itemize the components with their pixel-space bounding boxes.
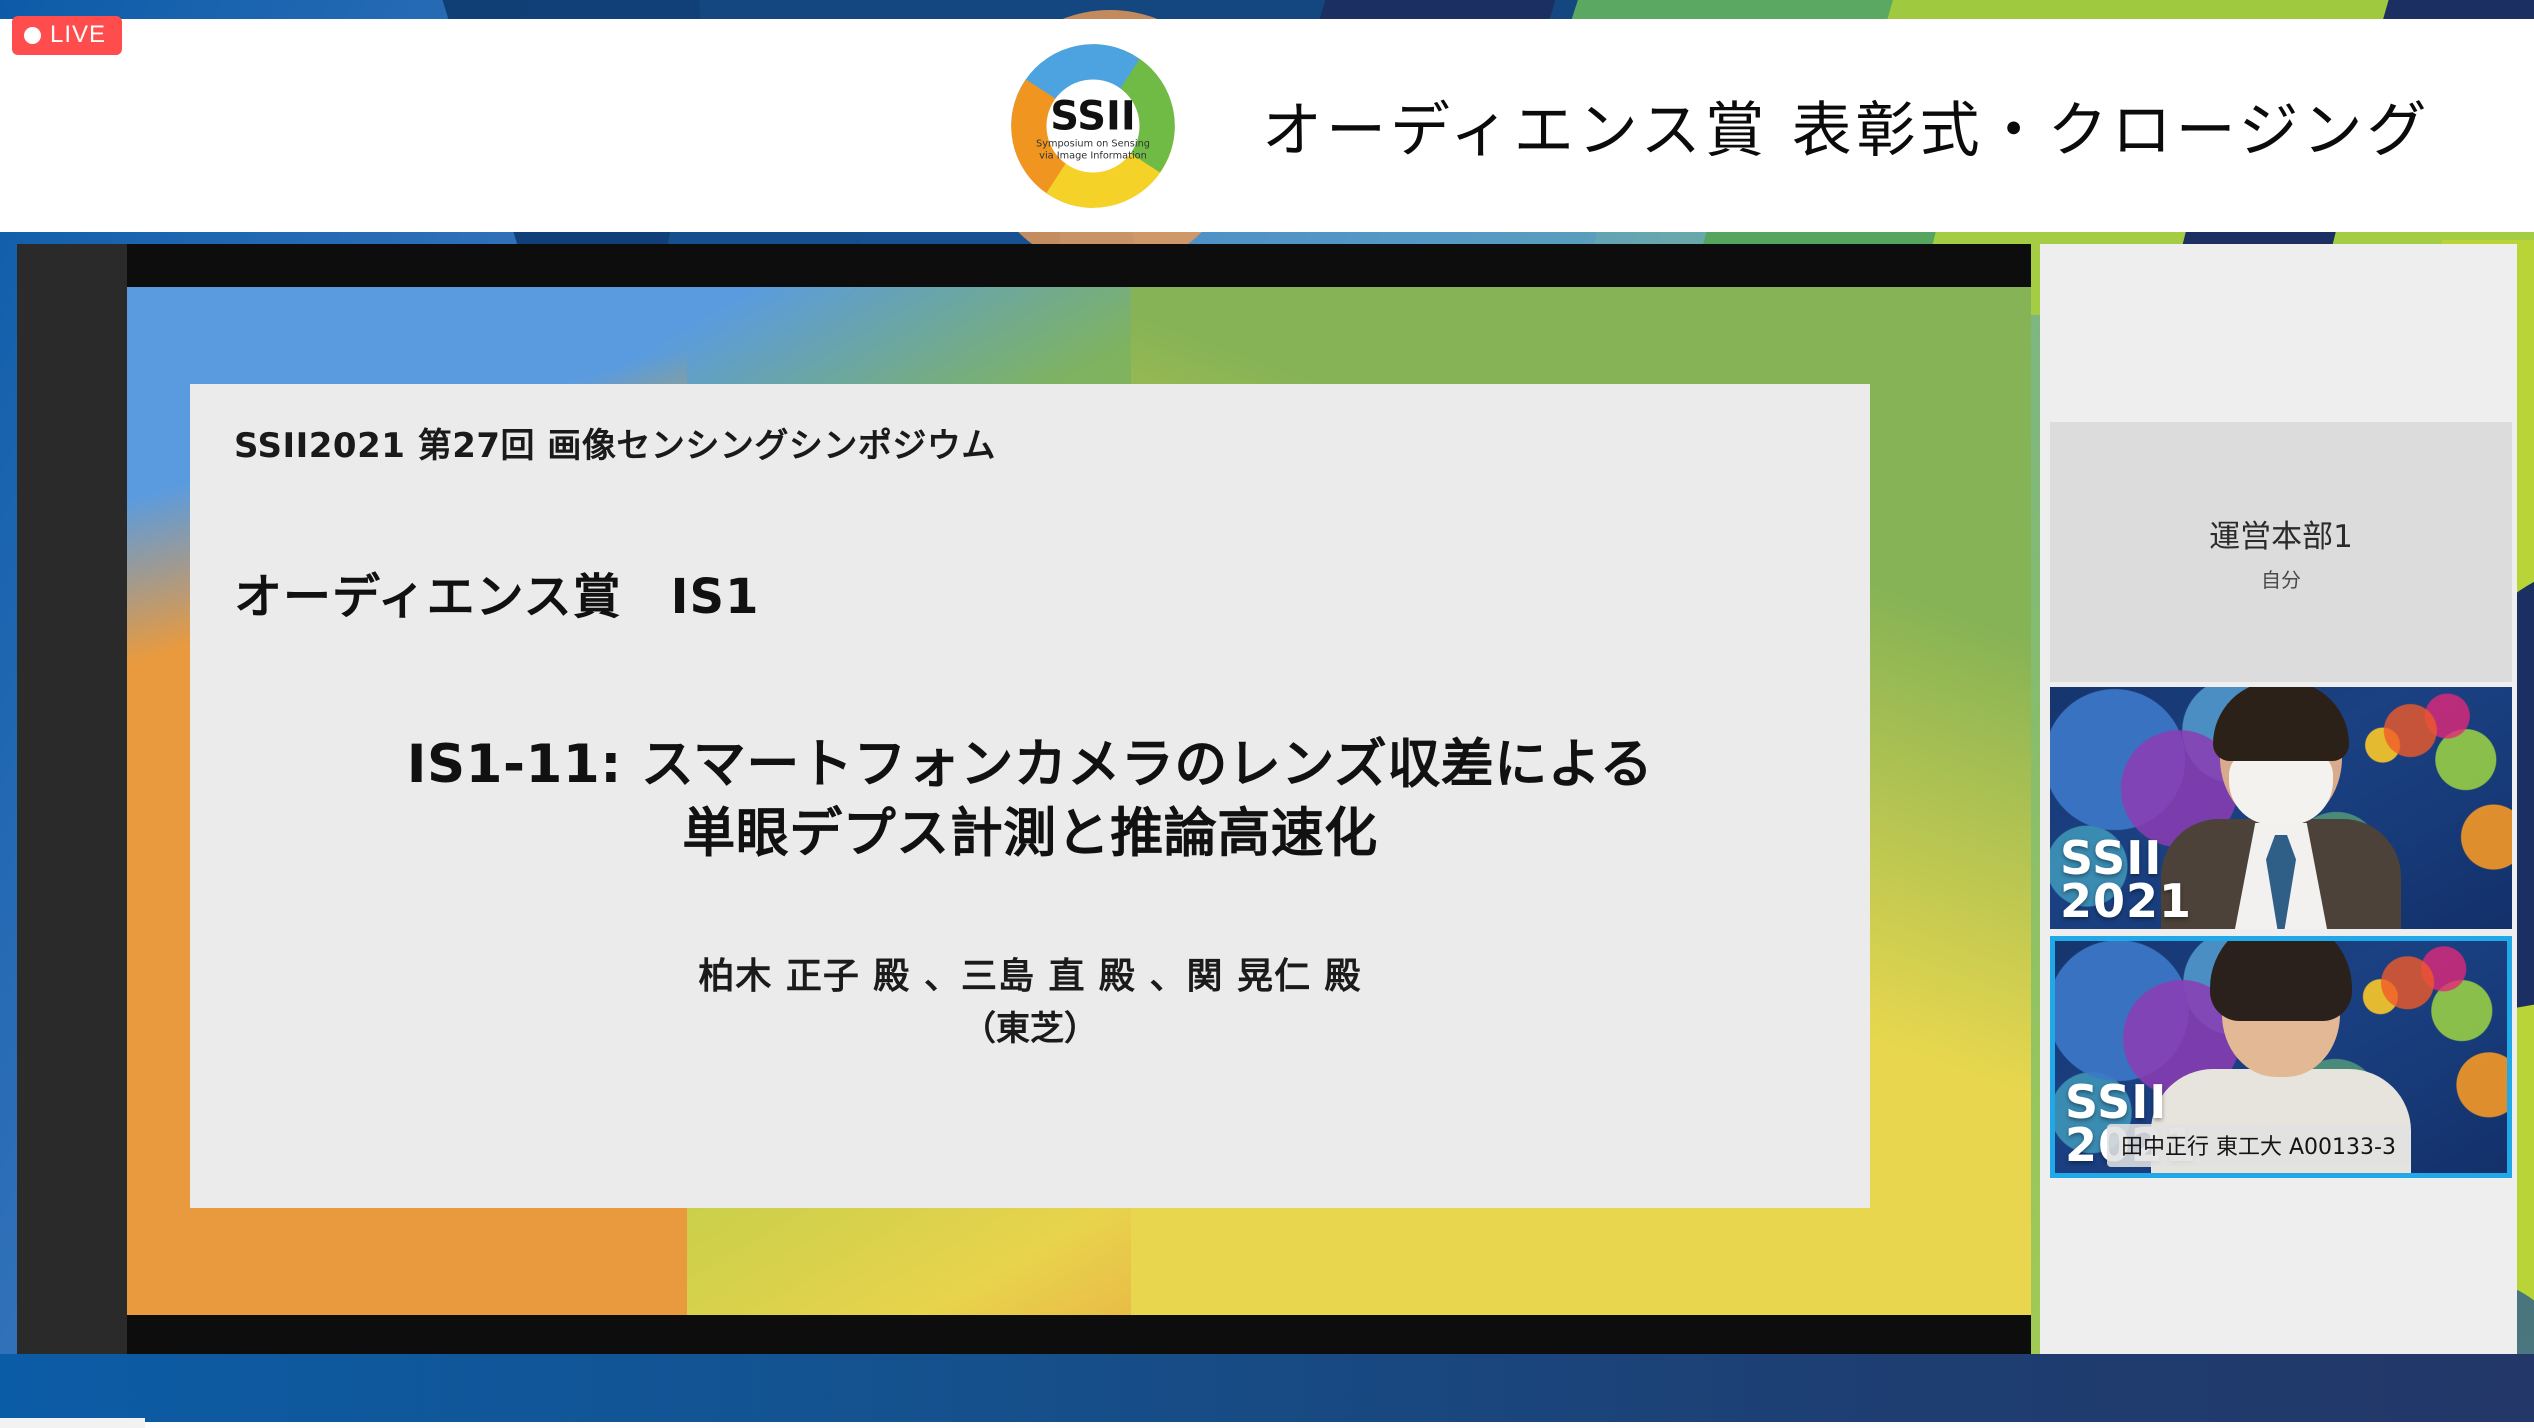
- participant-tile-video-2-active[interactable]: SSII 2021 田中正行 東工大 A00133-3: [2050, 936, 2512, 1178]
- participant-name-plate: 田中正行 東工大 A00133-3: [2107, 1124, 2410, 1167]
- meeting-screen: SSII Symposium on Sensing via Image Info…: [0, 0, 2534, 1428]
- slide-kicker: SSII2021 第27回 画像センシングシンポジウム: [234, 418, 1826, 467]
- header-bar: SSII Symposium on Sensing via Image Info…: [0, 19, 2534, 232]
- slide-title-line-1: IS1-11: スマートフォンカメラのレンズ収差による: [234, 731, 1826, 800]
- slide-affiliation: （東芝）: [234, 1001, 1826, 1050]
- virtual-bg-logo-1: SSII 2021: [2060, 837, 2192, 923]
- participant-subtitle-self: 自分: [2261, 564, 2301, 593]
- bg-bottom-white-strip: [145, 1422, 2534, 1428]
- slide-authors: 柏木 正子 殿 、三島 直 殿 、関 晃仁 殿: [234, 953, 1826, 1002]
- live-badge-label: LIVE: [50, 21, 106, 49]
- avatar-hair: [2213, 687, 2349, 761]
- live-dot-icon: [24, 27, 41, 44]
- svg-text:Symposium on Sensing: Symposium on Sensing: [1036, 138, 1150, 149]
- presentation-slide: SSII2021 第27回 画像センシングシンポジウム オーディエンス賞 IS1…: [127, 287, 2031, 1315]
- participant-rail[interactable]: 運営本部1 自分 SSII 2021: [2040, 244, 2517, 1354]
- ssii-logo: SSII Symposium on Sensing via Image Info…: [1000, 33, 1186, 219]
- svg-text:via Image Information: via Image Information: [1039, 151, 1147, 162]
- slide-title-line-2: 単眼デプス計測と推論高速化: [234, 800, 1826, 869]
- participant-tile-self[interactable]: 運営本部1 自分: [2050, 422, 2512, 682]
- vb-logo-line-2: 2021: [2060, 880, 2192, 923]
- bg-bottom-band: [0, 1354, 2534, 1422]
- shared-screen-frame[interactable]: SSII2021 第27回 画像センシングシンポジウム オーディエンス賞 IS1…: [17, 244, 2031, 1354]
- avatar-face-mask: [2229, 751, 2333, 825]
- slide-paper-title: IS1-11: スマートフォンカメラのレンズ収差による 単眼デプス計測と推論高速…: [234, 731, 1826, 869]
- slide-content-card: SSII2021 第27回 画像センシングシンポジウム オーディエンス賞 IS1…: [190, 384, 1870, 1208]
- svg-text:SSII: SSII: [1050, 94, 1136, 140]
- live-badge: LIVE: [12, 16, 122, 55]
- participant-tile-video-1[interactable]: SSII 2021: [2050, 687, 2512, 929]
- slide-award-heading: オーディエンス賞 IS1: [234, 557, 1826, 627]
- avatar-hair-2: [2210, 936, 2352, 1021]
- shared-screen-inner: SSII2021 第27回 画像センシングシンポジウム オーディエンス賞 IS1…: [127, 244, 2031, 1354]
- header-title: オーディエンス賞 表彰式・クロージング: [1262, 19, 2430, 232]
- bg-bottom-white-left: [0, 1418, 145, 1428]
- participant-name-self: 運営本部1: [2209, 511, 2353, 556]
